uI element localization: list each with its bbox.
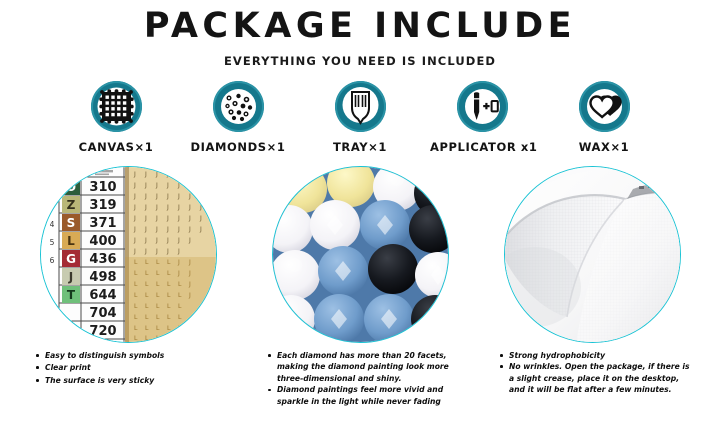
svg-text:J: J — [144, 182, 147, 189]
svg-text:4: 4 — [49, 220, 54, 229]
svg-text:J: J — [155, 171, 158, 178]
list-item: Clear print — [34, 362, 228, 374]
svg-text:L: L — [67, 234, 75, 248]
svg-text:J: J — [155, 193, 158, 200]
svg-text:J: J — [199, 193, 202, 200]
svg-text:J: J — [155, 226, 158, 233]
svg-text:3: 3 — [49, 202, 54, 211]
svg-text:J: J — [177, 237, 180, 244]
kit-item-label: WAX×1 — [552, 140, 656, 154]
panel-symbol-chart: JJJJJJJ JJJJJJJ JJJJJJJ JJJJJJJ JJJJJJJ … — [28, 166, 228, 408]
svg-text:S: S — [66, 216, 75, 230]
applicator-icon — [457, 81, 508, 132]
diamonds-closeup-photo — [272, 166, 449, 343]
svg-text:J: J — [166, 193, 169, 200]
svg-text:J: J — [199, 182, 202, 189]
list-item: No wrinkles. Open the package, if there … — [498, 361, 692, 396]
kit-item-wax[interactable]: WAX×1 — [552, 81, 656, 154]
panel-bullets: Strong hydrophobicity No wrinkles. Open … — [498, 350, 692, 396]
svg-text:J: J — [199, 171, 202, 178]
svg-text:J: J — [166, 226, 169, 233]
svg-text:G: G — [66, 252, 76, 266]
svg-text:J: J — [177, 171, 180, 178]
svg-text:J: J — [188, 237, 191, 244]
list-item: Each diamond has more than 20 facets, ma… — [266, 350, 460, 385]
header: PACKAGE INCLUDE EVERYTHING YOU NEED IS I… — [0, 0, 720, 68]
kit-item-label: DIAMONDS×1 — [186, 140, 290, 154]
svg-text:644: 644 — [89, 288, 116, 303]
svg-text:Z: Z — [66, 198, 75, 212]
svg-text:J: J — [155, 204, 158, 211]
svg-text:310: 310 — [89, 180, 116, 195]
svg-text:J: J — [188, 204, 191, 211]
feature-panels: JJJJJJJ JJJJJJJ JJJJJJJ JJJJJJJ JJJJJJJ … — [0, 166, 720, 408]
list-item: Diamond paintings feel more vivid and sp… — [266, 384, 460, 407]
diamonds-icon — [213, 81, 264, 132]
panel-rolled-canvas: Strong hydrophobicity No wrinkles. Open … — [492, 166, 692, 408]
page-title: PACKAGE INCLUDE — [0, 8, 720, 45]
list-item: The surface is very sticky — [34, 375, 228, 387]
svg-text:J: J — [177, 182, 180, 189]
svg-text:319: 319 — [89, 198, 116, 213]
svg-text:704: 704 — [89, 306, 116, 321]
svg-text:J: J — [133, 226, 136, 233]
rolled-canvas-photo — [504, 166, 681, 343]
svg-text:J: J — [188, 226, 191, 233]
svg-text:J: J — [199, 204, 202, 211]
svg-text:J: J — [188, 193, 191, 200]
svg-text:J: J — [199, 226, 202, 233]
svg-text:J: J — [166, 171, 169, 178]
svg-text:L: L — [167, 335, 171, 342]
kit-item-diamonds[interactable]: DIAMONDS×1 — [186, 81, 290, 154]
svg-text:J: J — [67, 270, 72, 284]
kit-contents-row: CANVAS×1 DIAMONDS×1 — [0, 81, 720, 154]
svg-text:371: 371 — [89, 216, 116, 231]
svg-text:J: J — [133, 182, 136, 189]
svg-text:J: J — [166, 248, 169, 255]
svg-text:J: J — [177, 248, 180, 255]
symbol-chart-image: JJJJJJJ JJJJJJJ JJJJJJJ JJJJJJJ JJJJJJJ … — [41, 167, 216, 342]
svg-text:J: J — [177, 215, 180, 222]
svg-text:J: J — [177, 193, 180, 200]
svg-text:5: 5 — [49, 238, 54, 247]
wax-badge — [579, 81, 630, 132]
svg-text:436: 436 — [89, 252, 116, 267]
svg-text:J: J — [133, 248, 136, 255]
tray-badge — [335, 81, 386, 132]
svg-text:J: J — [144, 204, 147, 211]
svg-text:J: J — [155, 248, 158, 255]
kit-item-canvas[interactable]: CANVAS×1 — [64, 81, 168, 154]
kit-item-label: CANVAS×1 — [64, 140, 168, 154]
svg-text:498: 498 — [89, 270, 116, 285]
list-item: Strong hydrophobicity — [498, 350, 692, 362]
svg-text:J: J — [144, 237, 147, 244]
svg-text:J: J — [144, 215, 147, 222]
svg-text:T: T — [66, 288, 75, 302]
panel-diamonds-closeup: Each diamond has more than 20 facets, ma… — [260, 166, 460, 408]
svg-text:J: J — [166, 215, 169, 222]
diamonds-closeup-image — [273, 167, 448, 342]
svg-text:J: J — [166, 182, 169, 189]
svg-text:J: J — [155, 215, 158, 222]
kit-item-label: TRAY×1 — [308, 140, 412, 154]
kit-item-tray[interactable]: TRAY×1 — [308, 81, 412, 154]
diamonds-badge — [213, 81, 264, 132]
svg-text:J: J — [133, 171, 136, 178]
svg-text:400: 400 — [89, 234, 116, 249]
panel-bullets: Easy to distinguish symbols Clear print … — [34, 350, 228, 387]
svg-text:J: J — [199, 215, 202, 222]
applicator-badge — [457, 81, 508, 132]
kit-item-applicator[interactable]: APPLICATOR x1 — [430, 81, 534, 154]
svg-text:J: J — [133, 237, 136, 244]
svg-text:J: J — [133, 204, 136, 211]
svg-text:J: J — [133, 215, 136, 222]
canvas-icon — [91, 81, 142, 132]
svg-text:J: J — [177, 204, 180, 211]
list-item: Easy to distinguish symbols — [34, 350, 228, 362]
canvas-badge — [91, 81, 142, 132]
svg-text:J: J — [166, 204, 169, 211]
svg-text:J: J — [155, 237, 158, 244]
svg-text:J: J — [144, 248, 147, 255]
panel-bullets: Each diamond has more than 20 facets, ma… — [266, 350, 460, 408]
svg-text:J: J — [166, 237, 169, 244]
svg-text:J: J — [144, 171, 147, 178]
svg-text:6: 6 — [49, 256, 54, 265]
svg-text:J: J — [155, 182, 158, 189]
page-subtitle: EVERYTHING YOU NEED IS INCLUDED — [0, 54, 720, 68]
svg-text:J: J — [188, 215, 191, 222]
svg-text:J: J — [144, 193, 147, 200]
svg-text:O: O — [65, 180, 75, 194]
svg-text:J: J — [188, 182, 191, 189]
tray-icon — [335, 81, 386, 132]
svg-text:J: J — [133, 193, 136, 200]
wax-icon — [579, 81, 630, 132]
svg-text:J: J — [144, 226, 147, 233]
rolled-canvas-image — [505, 167, 680, 342]
svg-text:J: J — [177, 226, 180, 233]
kit-item-label: APPLICATOR x1 — [430, 140, 534, 154]
svg-text:720: 720 — [89, 324, 116, 339]
symbol-chart-photo: JJJJJJJ JJJJJJJ JJJJJJJ JJJJJJJ JJJJJJJ … — [40, 166, 217, 343]
svg-text:J: J — [188, 171, 191, 178]
